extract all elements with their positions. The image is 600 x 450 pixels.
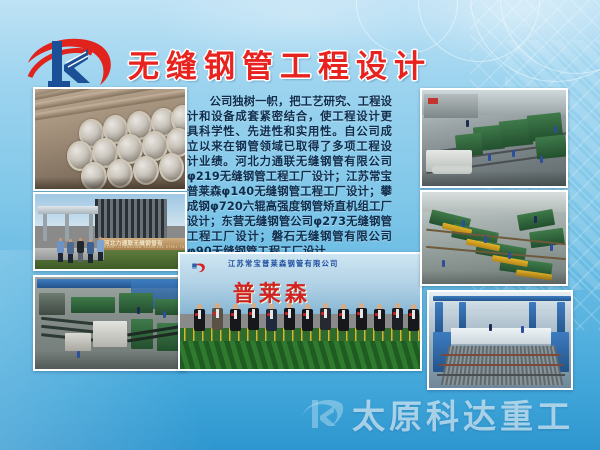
kd-watermark-logo-icon [300,394,346,434]
photo-rolling-mill-line [33,275,187,371]
photo-opening-ceremony: 江苏常宝普莱森钢管有限公司 普莱森 [178,252,422,371]
banner-company-name: 江苏常宝普莱森钢管有限公司 [228,259,338,269]
photo-plant-gate-staff: 河北力通联无缝钢管有 HEBEI LITONGLIAN SEAMLESS STE… [33,192,187,271]
photo-gate-sign-latin: HEBEI LITONGLIAN SEAMLESS STEEL TUBE [104,245,187,249]
background-arc [500,0,600,74]
photo-workshop-assembly-line [420,88,568,188]
page-title: 无缝钢管工程设计 [128,46,488,88]
footer-brand-bar: 太原科达重工 [0,388,600,450]
photo-equipment-yard [420,190,568,286]
body-paragraph: 公司独树一帜，把工艺研究、工程设计和设备成套紧密结合，使工程设计更具科学性、先进… [187,94,392,259]
photo-cooling-bed-hall [427,290,573,390]
slide-canvas: 无缝钢管工程设计 公司独树一帜，把工艺研究、工程设计和设备成套紧密结合，使工程设… [0,0,600,450]
banner-logo-icon [185,261,211,276]
footer-brand-name: 太原科达重工 [352,390,574,438]
background-arc [470,0,600,82]
photo-seamless-steel-pipes [33,87,187,191]
kd-company-logo-icon [22,33,122,95]
